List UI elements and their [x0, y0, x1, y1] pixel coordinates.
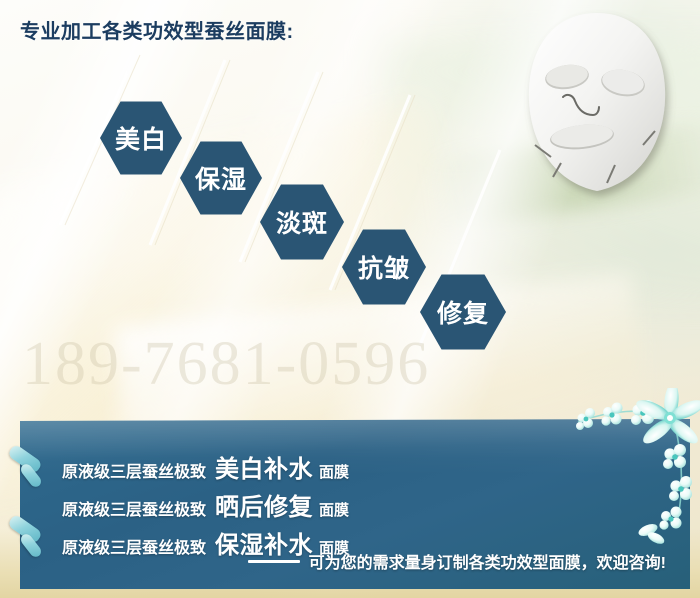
flower-small-6 [659, 507, 681, 530]
flower-corner-decoration [566, 388, 700, 548]
product-prefix-1: 原液级三层蚕丝极致 [62, 502, 206, 519]
hexagon-label-0: 美白 [115, 120, 167, 156]
flower-small-4 [663, 444, 686, 469]
tagline-rule-icon [248, 560, 300, 563]
product-prefix-2: 原液级三层蚕丝极致 [62, 540, 206, 557]
hexagon-label-1: 保湿 [195, 160, 247, 196]
promo-banner: 189-7681-0596 [0, 0, 700, 598]
hexagon-label-3: 抗皱 [358, 249, 410, 285]
tagline-text: 可为您的需求量身订制各类功效型面膜，欢迎咨询! [309, 549, 666, 573]
facial-sheet-mask-image [505, 5, 690, 205]
hexagon-label-4: 修复 [437, 294, 489, 330]
product-main-0: 美白补水 [215, 456, 313, 483]
flower-small-2 [601, 403, 622, 426]
product-line-1: 原液级三层蚕丝极致晒后修复面膜 [62, 487, 349, 522]
product-suffix-0: 面膜 [319, 464, 349, 481]
hexagon-label-2: 淡斑 [276, 204, 328, 240]
panel-tagline: 可为您的需求量身订制各类功效型面膜，欢迎咨询! [248, 549, 666, 573]
product-prefix-0: 原液级三层蚕丝极致 [62, 464, 206, 481]
flower-small-1 [576, 408, 595, 430]
product-main-1: 晒后修复 [215, 494, 313, 521]
product-suffix-1: 面膜 [319, 502, 349, 519]
product-line-0: 原液级三层蚕丝极致美白补水面膜 [62, 449, 349, 484]
page-title: 专业加工各类功效型蚕丝面膜: [20, 15, 294, 44]
